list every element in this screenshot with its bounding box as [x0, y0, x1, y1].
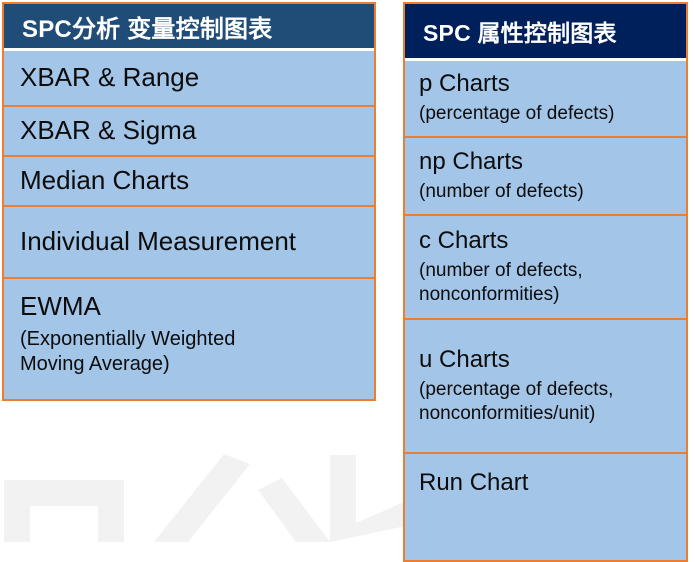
table-row[interactable]: Run Chart — [405, 452, 686, 532]
row-subtitle-line: (percentage of defects) — [419, 102, 678, 126]
row-title: XBAR & Range — [20, 64, 364, 91]
row-subtitle-line: nonconformities) — [419, 283, 678, 307]
variable-table-header-label: SPC分析 变量控制图表 — [22, 9, 272, 44]
row-title: Individual Measurement — [20, 228, 364, 255]
row-title: u Charts — [419, 347, 678, 372]
row-subtitle-line: (number of defects) — [419, 180, 678, 204]
table-row[interactable]: XBAR & Sigma — [4, 105, 374, 155]
row-title: XBAR & Sigma — [20, 117, 364, 144]
table-row[interactable]: u Charts (percentage of defects, nonconf… — [405, 318, 686, 452]
attribute-table-header: SPC 属性控制图表 — [405, 4, 686, 58]
table-row[interactable]: Median Charts — [4, 155, 374, 205]
table-row[interactable]: Individual Measurement — [4, 205, 374, 277]
row-title: Median Charts — [20, 167, 364, 194]
variable-control-charts-table: SPC分析 变量控制图表 XBAR & Range XBAR & Sigma M… — [2, 2, 376, 401]
table-row[interactable]: XBAR & Range — [4, 48, 374, 105]
slide-canvas: SPC分析 变量控制图表 XBAR & Range XBAR & Sigma M… — [0, 0, 695, 542]
row-subtitle-line: (percentage of defects, — [419, 378, 678, 402]
row-subtitle: (number of defects) — [419, 180, 678, 204]
attribute-table-rows: p Charts (percentage of defects) np Char… — [405, 58, 686, 532]
row-title: p Charts — [419, 71, 678, 96]
row-title: c Charts — [419, 228, 678, 253]
row-title: np Charts — [419, 149, 678, 174]
table-row[interactable]: np Charts (number of defects) — [405, 136, 686, 214]
row-subtitle: (number of defects, nonconformities) — [419, 259, 678, 307]
row-subtitle: (percentage of defects) — [419, 102, 678, 126]
row-subtitle-line: Moving Average) — [20, 352, 364, 376]
variable-table-rows: XBAR & Range XBAR & Sigma Median Charts … — [4, 48, 374, 399]
row-title: Run Chart — [419, 470, 678, 495]
table-row[interactable]: EWMA (Exponentially Weighted Moving Aver… — [4, 277, 374, 399]
row-subtitle-line: nonconformities/unit) — [419, 402, 678, 426]
attribute-control-charts-table: SPC 属性控制图表 p Charts (percentage of defec… — [403, 2, 688, 562]
row-subtitle-line: (Exponentially Weighted — [20, 327, 364, 351]
variable-table-header: SPC分析 变量控制图表 — [4, 4, 374, 48]
row-subtitle: (Exponentially Weighted Moving Average) — [20, 327, 364, 376]
row-subtitle-line: (number of defects, — [419, 259, 678, 283]
row-title: EWMA — [20, 293, 364, 320]
row-subtitle: (percentage of defects, nonconformities/… — [419, 378, 678, 426]
table-row[interactable]: p Charts (percentage of defects) — [405, 58, 686, 136]
attribute-table-header-label: SPC 属性控制图表 — [423, 14, 617, 48]
table-row[interactable]: c Charts (number of defects, nonconformi… — [405, 214, 686, 318]
